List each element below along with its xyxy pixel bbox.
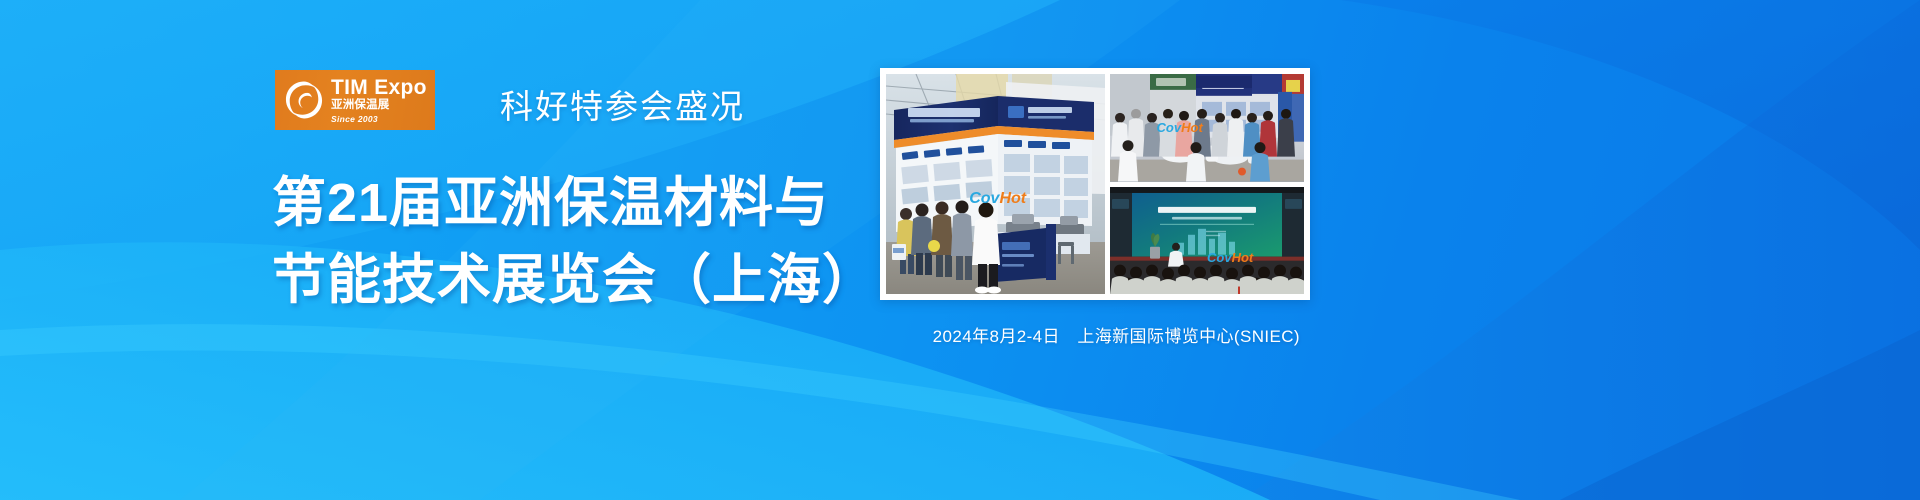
visitors-photo-art [1110,74,1304,182]
logo-brand-en: TIM Expo [331,77,427,98]
yin-yang-brush-circle-icon [283,79,325,121]
expo-banner: TIM Expo 亚洲保温展 Since 2003 科好特参会盛况 第21届亚洲… [0,0,1920,500]
visitors-hall-photo: CovHot [1110,74,1304,182]
logo-since-text: Since 2003 [331,115,427,124]
photo-collage: CovHot [880,68,1310,300]
title-line-2: 节能技术展览会（上海） [272,242,877,319]
booth-photo-art [886,74,1105,294]
tagline-text: 科好特参会盛况 [500,80,745,128]
title-line-1: 第21届亚洲保温材料与 [272,165,877,242]
covhot-watermark-forum: CovHot [1207,251,1253,264]
page-title: 第21届亚洲保温材料与 节能技术展览会（上海） [272,165,877,318]
forum-photo-art [1110,187,1304,295]
event-date-venue: 2024年8月2-4日 上海新国际博览中心(SNIEC) [933,322,1300,347]
covhot-watermark-booth: CovHot [969,191,1026,207]
photo-right-column: CovHot [1110,74,1304,294]
covhot-watermark-visitors: CovHot [1157,121,1203,134]
logo-brand-cn: 亚洲保温展 [331,100,427,112]
forum-presentation-photo: CovHot [1110,187,1304,295]
exhibition-booth-photo: CovHot [886,74,1105,294]
tim-expo-logo[interactable]: TIM Expo 亚洲保温展 Since 2003 [275,70,435,130]
